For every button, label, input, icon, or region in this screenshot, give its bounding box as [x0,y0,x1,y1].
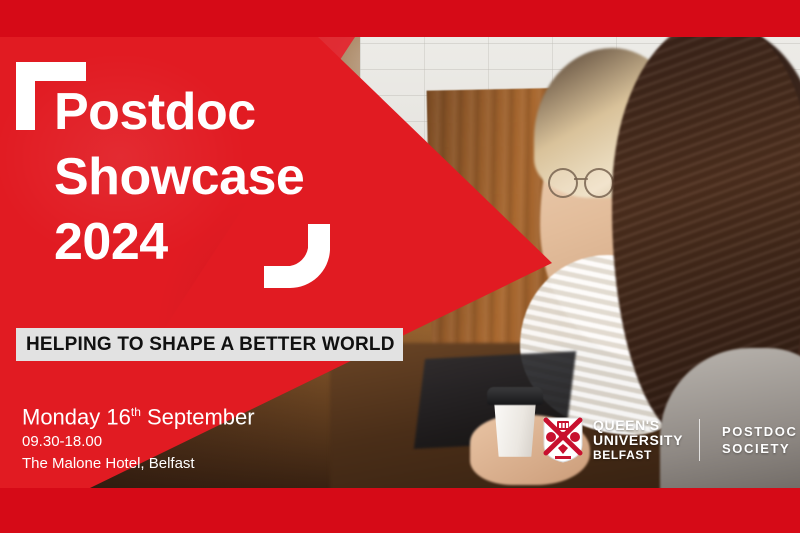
event-date-suffix: September [141,404,255,429]
red-bar-bottom [0,488,800,533]
coffee-cup-body [491,399,539,457]
university-name-line-2: UNIVERSITY [593,433,683,448]
university-name-line-1: QUEEN'S [593,418,683,433]
event-venue: The Malone Hotel, Belfast [22,453,255,475]
society-name-line-1: POSTDOC [722,423,797,440]
headline-line-1: Postdoc [54,80,384,145]
page-title: Postdoc Showcase 2024 [54,80,384,275]
glasses-left-lens [548,168,578,198]
coffee-cup-lid [487,387,543,405]
event-date-prefix: Monday 16 [22,404,131,429]
red-bar-top [0,0,800,37]
tagline-banner: HELPING TO SHAPE A BETTER WORLD [16,328,403,361]
headline-line-3: 2024 [54,210,384,275]
event-poster: Postdoc Showcase 2024 HELPING TO SHAPE A… [0,0,800,533]
glasses-right-lens [584,168,614,198]
event-date-ordinal: th [131,405,141,419]
queens-university-belfast-crest-icon [543,417,583,463]
society-name-line-2: SOCIETY [722,440,797,457]
society-name: POSTDOC SOCIETY [722,423,797,457]
glasses-photo-element [548,168,614,194]
event-details: Monday 16th September 09.30-18.00 The Ma… [22,398,255,475]
event-date: Monday 16th September [22,398,255,431]
tagline-text: HELPING TO SHAPE A BETTER WORLD [26,334,395,356]
logo-lockup: QUEEN'S UNIVERSITY BELFAST POSTDOC SOCIE… [543,417,798,463]
corner-bracket-vertical [16,62,35,130]
university-name: QUEEN'S UNIVERSITY BELFAST [593,418,683,463]
event-time: 09.30-18.00 [22,431,255,453]
logo-divider [699,419,700,461]
university-name-line-3: BELFAST [593,448,683,463]
headline-line-2: Showcase [54,145,384,210]
coffee-cup-photo-element [487,385,543,457]
